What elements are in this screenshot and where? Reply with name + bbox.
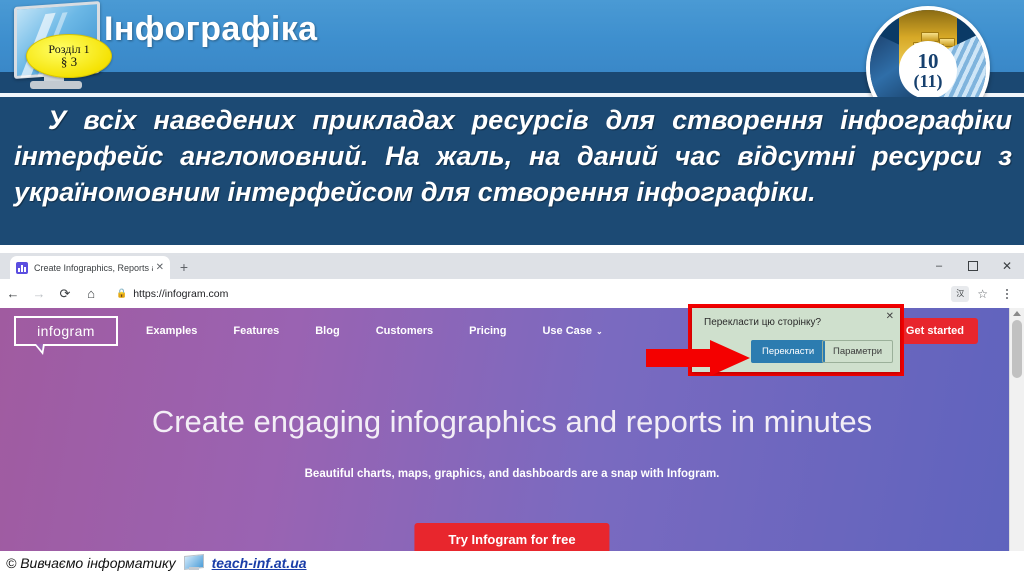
nav-item-use-case[interactable]: Use Case⌄ [542, 325, 602, 337]
translate-button[interactable]: Перекласти [751, 340, 825, 363]
red-arrow-pointer [646, 340, 750, 376]
home-icon[interactable]: ⌂ [78, 279, 104, 308]
monitor-illustration: Розділ 1 § 3 [8, 2, 104, 98]
scrollbar-thumb[interactable] [1012, 320, 1022, 378]
lock-icon: 🔒 [116, 288, 127, 299]
footer-monitor-base [189, 567, 199, 570]
translate-icon[interactable]: 汉 [951, 286, 969, 302]
browser-tab[interactable]: Create Infographics, Reports and ✕ [10, 256, 170, 279]
address-bar[interactable]: 🔒 https://infogram.com [108, 284, 943, 303]
reload-icon[interactable]: ⟳ [52, 279, 78, 308]
page-scrollbar[interactable] [1009, 308, 1024, 553]
browser-tab-title: Create Infographics, Reports and [34, 263, 153, 273]
browser-tabstrip: Create Infographics, Reports and ✕ + – ✕ [0, 253, 1024, 279]
chapter-badge-line2: § 3 [61, 55, 77, 69]
footer-site-link[interactable]: teach-inf.at.ua [212, 555, 307, 571]
kebab-menu-icon[interactable] [998, 285, 1016, 303]
bookmark-star-icon[interactable]: ☆ [977, 287, 988, 301]
infogram-logo[interactable]: infogram [14, 316, 118, 346]
toolbar-right-group: 汉 ☆ [951, 285, 1022, 303]
translate-options-button[interactable]: Параметри [822, 340, 893, 363]
get-started-button[interactable]: Get started [892, 318, 978, 344]
close-icon[interactable]: ✕ [156, 262, 164, 273]
back-icon[interactable]: ← [0, 279, 26, 308]
site-nav-links: Examples Features Blog Customers Pricing… [146, 325, 639, 337]
slide-body-text: У всіх наведених прикладах ресурсів для … [14, 103, 1012, 211]
footer-copyright: © Вивчаємо інформатику [6, 555, 176, 571]
nav-item-blog[interactable]: Blog [315, 325, 339, 337]
footer-monitor-icon [184, 555, 206, 571]
chevron-down-icon: ⌄ [596, 327, 603, 336]
nav-item-customers[interactable]: Customers [376, 325, 433, 337]
new-tab-button[interactable]: + [176, 259, 192, 275]
maximize-button[interactable] [956, 253, 990, 279]
minimize-button[interactable]: – [922, 253, 956, 279]
forward-icon[interactable]: → [26, 279, 52, 308]
hero-subtitle: Beautiful charts, maps, graphics, and da… [0, 468, 1024, 480]
slide-footer: © Вивчаємо інформатику teach-inf.at.ua [0, 551, 1024, 574]
bar-chart-favicon-icon [16, 262, 28, 274]
emblem-grade-11: (11) [914, 72, 943, 90]
emblem-grade-10: 10 [918, 51, 939, 72]
hero-heading: Create engaging infographics and reports… [0, 404, 1024, 440]
browser-window: Create Infographics, Reports and ✕ + – ✕… [0, 253, 1024, 553]
chapter-badge: Розділ 1 § 3 [26, 34, 112, 78]
page-title: Інфографіка [104, 10, 317, 49]
scroll-up-arrow-icon[interactable] [1013, 311, 1021, 316]
nav-item-pricing[interactable]: Pricing [469, 325, 506, 337]
nav-item-use-case-label: Use Case [542, 325, 592, 337]
translate-popup-close-icon[interactable]: ✕ [886, 311, 894, 322]
nav-item-features[interactable]: Features [233, 325, 279, 337]
address-bar-url: https://infogram.com [133, 288, 228, 300]
slide-text-panel: У всіх наведених прикладах ресурсів для … [0, 97, 1024, 245]
window-close-button[interactable]: ✕ [990, 253, 1024, 279]
emblem-grade-label: 10 (11) [899, 41, 957, 99]
monitor-base [30, 81, 82, 89]
try-for-free-button[interactable]: Try Infogram for free [414, 523, 609, 553]
translate-popup-title: Перекласти цю сторінку? [704, 317, 821, 328]
maximize-icon [968, 261, 978, 271]
window-controls: – ✕ [922, 253, 1024, 279]
nav-item-examples[interactable]: Examples [146, 325, 197, 337]
